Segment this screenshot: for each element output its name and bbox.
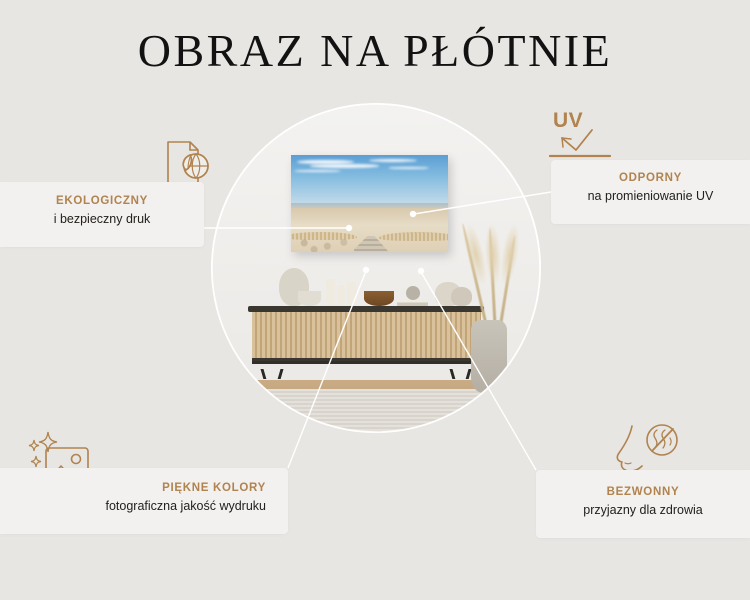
artwork-beach xyxy=(291,208,448,252)
feature-title-colors: PIĘKNE KOLORY xyxy=(0,480,266,497)
sideboard xyxy=(248,306,484,372)
feature-card-uv[interactable]: ODPORNY na promieniowanie UV xyxy=(551,160,750,224)
sideboard-base xyxy=(252,361,481,364)
pampas-grass xyxy=(455,222,540,327)
feature-card-colors[interactable]: PIĘKNE KOLORY fotograficzna jakość wydru… xyxy=(0,468,288,534)
feature-subtitle-odor: przyjazny dla zdrowia xyxy=(536,501,750,519)
cloud xyxy=(388,167,429,170)
books-stack xyxy=(397,300,428,306)
page-title: OBRAZ NA PŁÓTNIE xyxy=(0,28,750,74)
wooden-bowl xyxy=(364,291,395,306)
candle xyxy=(326,279,335,305)
candle xyxy=(347,282,356,306)
artwork-sky xyxy=(291,155,448,205)
cloud xyxy=(310,164,379,168)
feature-card-eco[interactable]: EKOLOGICZNY i bezpieczny druk xyxy=(0,182,204,247)
floor-vase xyxy=(471,320,507,392)
rug xyxy=(212,389,540,432)
feature-title-uv: ODPORNY xyxy=(551,170,750,187)
infographic-canvas: OBRAZ NA PŁÓTNIE xyxy=(0,0,750,600)
feature-subtitle-uv: na promieniowanie UV xyxy=(551,187,750,205)
room-scene-circle xyxy=(212,104,540,432)
cloud xyxy=(294,170,341,173)
feature-title-odor: BEZWONNY xyxy=(536,484,750,501)
feature-title-eco: EKOLOGICZNY xyxy=(0,193,204,210)
feature-card-odor[interactable]: BEZWONNY przyjazny dla zdrowia xyxy=(536,470,750,538)
cloud xyxy=(369,159,416,162)
sideboard-fluted-front xyxy=(252,312,481,362)
canvas-artwork xyxy=(291,155,448,252)
feature-subtitle-eco: i bezpieczny druk xyxy=(0,210,204,228)
candle xyxy=(337,285,346,305)
sand-texture xyxy=(291,239,357,251)
room-scene xyxy=(212,104,540,432)
ceramic-bowl xyxy=(298,291,322,305)
dune-grass-right xyxy=(379,232,448,241)
feature-subtitle-colors: fotograficzna jakość wydruku xyxy=(0,497,266,515)
